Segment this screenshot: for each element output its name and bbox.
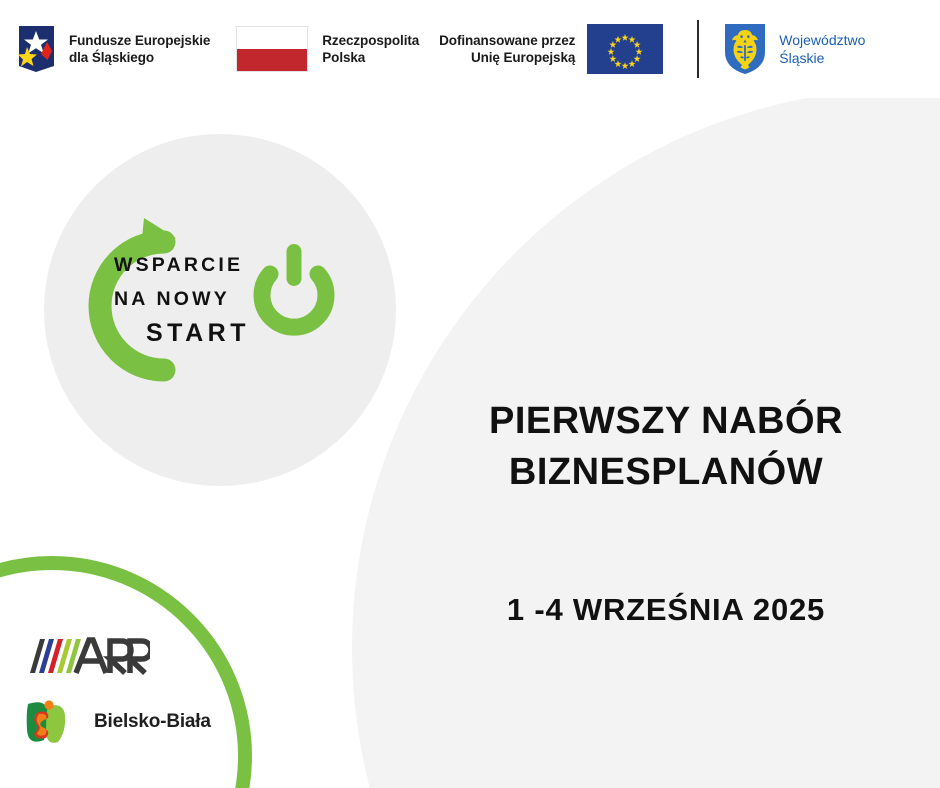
polish-flag-icon [236, 26, 308, 72]
logo-republic-of-poland: Rzeczpospolita Polska [236, 20, 419, 78]
bielsko-biala-mark-icon [18, 696, 74, 748]
page-headline: PIERWSZY NABÓR BIZNESPLANÓW [444, 396, 888, 497]
arr-slashes-icon [30, 639, 81, 673]
headline-line-1: PIERWSZY NABÓR [444, 396, 888, 447]
brand-line-3: START [114, 321, 282, 346]
brand-line-1: WSPARCIE [114, 256, 282, 276]
bielsko-biala-label: Bielsko-Biała [94, 711, 211, 733]
logo-bielsko-biala: Bielsko-Biała [18, 696, 211, 748]
silesian-eagle-shield-icon [723, 22, 767, 76]
brand-wordmark: WSPARCIE NA NOWY START [114, 256, 282, 346]
event-date: 1 -4 WRZEŚNIA 2025 [444, 592, 888, 628]
brand-logo-wsparcie-na-nowy-start: WSPARCIE NA NOWY START [72, 212, 382, 402]
poster-canvas: Fundusze Europejskie dla Śląskiego Rzecz… [0, 0, 940, 788]
funding-logo-strip: Fundusze Europejskie dla Śląskiego Rzecz… [0, 0, 940, 98]
eu-funds-stars-icon [14, 20, 59, 78]
logo-co-funded-by-eu: Dofinansowane przez Unię Europejską [439, 20, 663, 78]
logo-poland-label: Rzeczpospolita Polska [322, 32, 419, 67]
headline-line-2: BIZNESPLANÓW [444, 447, 888, 498]
logo-voivodeship-label: Województwo Śląskie [779, 31, 865, 67]
logo-eu-funds: Fundusze Europejskie dla Śląskiego [0, 20, 210, 78]
logo-eu-label: Dofinansowane przez Unię Europejską [439, 32, 575, 67]
logo-silesian-voivodeship: Województwo Śląskie [723, 20, 865, 78]
header-divider [697, 20, 699, 78]
logo-arr [26, 634, 150, 678]
brand-line-2: NA NOWY [114, 290, 282, 310]
logo-eu-funds-label: Fundusze Europejskie dla Śląskiego [69, 32, 210, 67]
eu-flag-icon [587, 24, 663, 74]
arr-wordmark-icon [76, 640, 150, 673]
